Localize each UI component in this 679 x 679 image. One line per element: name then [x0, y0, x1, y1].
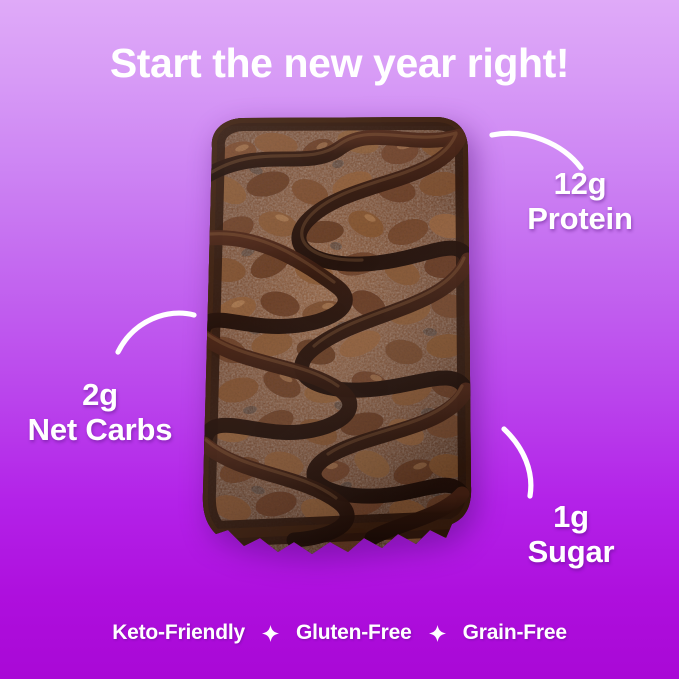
callout-protein-label: Protein [487, 202, 673, 237]
badge-gluten-free: Gluten-Free [296, 621, 412, 645]
badge-keto-friendly: Keto-Friendly [112, 621, 245, 645]
bar-crisp-surface [190, 114, 482, 564]
net-carbs-pointer-arc [112, 306, 202, 361]
callout-protein-value: 12g [487, 167, 673, 202]
chocolate-crisp-bar-graphic [190, 114, 482, 564]
page-title: Start the new year right! [0, 40, 679, 87]
product-marketing-image: Start the new year right! [0, 0, 679, 679]
product-bar-image [190, 114, 482, 564]
callout-protein: 12g Protein [487, 167, 673, 236]
attribute-badge-row: Keto-Friendly Gluten-Free Grain-Free [0, 621, 679, 645]
callout-net-carbs-value: 2g [2, 378, 198, 413]
four-pointed-star-icon [262, 625, 279, 642]
callout-net-carbs: 2g Net Carbs [2, 378, 198, 447]
callout-sugar-label: Sugar [478, 535, 664, 570]
four-pointed-star-icon [429, 625, 446, 642]
sugar-pointer-arc [492, 424, 552, 507]
callout-net-carbs-label: Net Carbs [2, 413, 198, 448]
badge-grain-free: Grain-Free [463, 621, 567, 645]
callout-sugar: 1g Sugar [478, 500, 664, 569]
callout-sugar-value: 1g [478, 500, 664, 535]
